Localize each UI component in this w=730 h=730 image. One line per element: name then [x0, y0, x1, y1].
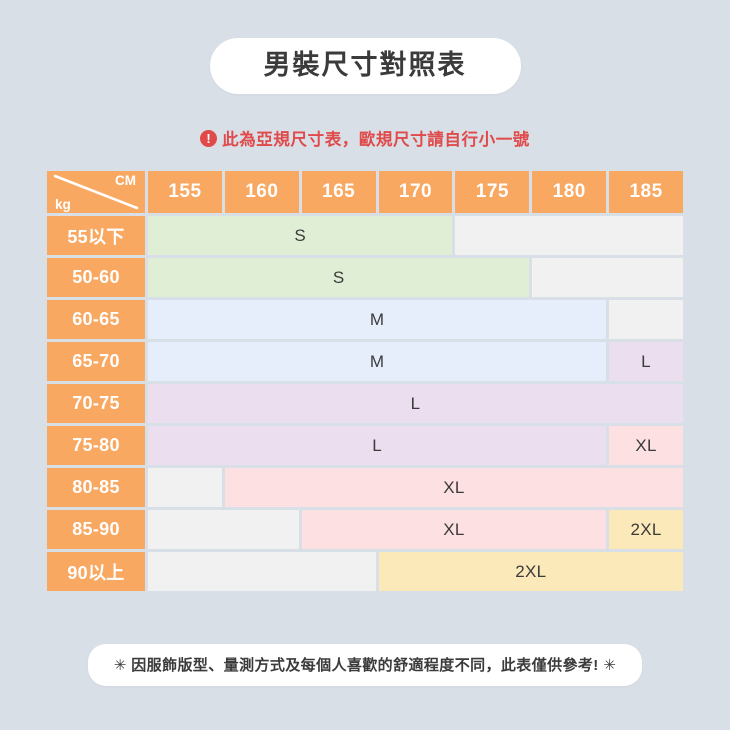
table-row: 80-85XL — [47, 468, 683, 507]
row-label: 85-90 — [47, 510, 145, 549]
size-cell-empty — [532, 258, 683, 297]
size-cell-empty — [148, 552, 376, 591]
table-row: 90以上2XL — [47, 552, 683, 591]
title-container: 男裝尺寸對照表 — [0, 38, 730, 94]
column-header-160: 160 — [225, 171, 299, 213]
column-header-180: 180 — [532, 171, 606, 213]
size-cell-l: L — [148, 384, 683, 423]
size-cell-m: M — [148, 300, 606, 339]
size-cell-l: L — [148, 426, 606, 465]
table-row: 75-80LXL — [47, 426, 683, 465]
size-cell-2xl: 2XL — [609, 510, 683, 549]
row-label: 70-75 — [47, 384, 145, 423]
size-cell-empty — [609, 300, 683, 339]
row-label: 80-85 — [47, 468, 145, 507]
exclamation-circle-icon: ! — [200, 130, 217, 147]
table-row: 55以下S — [47, 216, 683, 255]
table-body: 55以下S50-60S60-65M65-70ML70-75L75-80LXL80… — [47, 216, 683, 591]
corner-kg-label: kg — [55, 197, 71, 212]
warning-text: 此為亞規尺寸表，歐規尺寸請自行小一號 — [222, 126, 530, 150]
page-title: 男裝尺寸對照表 — [264, 49, 467, 81]
size-chart-page: 男裝尺寸對照表 ! 此為亞規尺寸表，歐規尺寸請自行小一號 CM kg 155 1… — [0, 0, 730, 730]
row-label: 50-60 — [47, 258, 145, 297]
table-row: 85-90XL2XL — [47, 510, 683, 549]
size-cell-2xl: 2XL — [379, 552, 683, 591]
size-cell-empty — [148, 510, 299, 549]
size-cell-empty — [148, 468, 222, 507]
footer-note-pill: ✳ 因服飾版型、量測方式及每個人喜歡的舒適程度不同，此表僅供參考! ✳ — [88, 644, 642, 686]
row-label: 60-65 — [47, 300, 145, 339]
size-cell-xl: XL — [302, 510, 606, 549]
column-header-165: 165 — [302, 171, 376, 213]
row-label: 90以上 — [47, 552, 145, 591]
corner-cm-label: CM — [115, 173, 136, 188]
table-corner-cell: CM kg — [47, 171, 145, 213]
table-row: 65-70ML — [47, 342, 683, 381]
size-cell-empty — [455, 216, 683, 255]
footer-note-container: ✳ 因服飾版型、量測方式及每個人喜歡的舒適程度不同，此表僅供參考! ✳ — [0, 644, 730, 686]
column-header-185: 185 — [609, 171, 683, 213]
table-row: 50-60S — [47, 258, 683, 297]
title-pill: 男裝尺寸對照表 — [210, 38, 521, 94]
column-header-170: 170 — [379, 171, 453, 213]
table-header-row: CM kg 155 160 165 170 175 180 185 — [47, 171, 683, 213]
table-row: 60-65M — [47, 300, 683, 339]
column-header-175: 175 — [455, 171, 529, 213]
column-header-155: 155 — [148, 171, 222, 213]
row-label: 55以下 — [47, 216, 145, 255]
table-row: 70-75L — [47, 384, 683, 423]
size-cell-s: S — [148, 258, 529, 297]
size-cell-m: M — [148, 342, 606, 381]
size-table: CM kg 155 160 165 170 175 180 185 55以下S5… — [47, 171, 683, 591]
row-label: 75-80 — [47, 426, 145, 465]
size-cell-xl: XL — [609, 426, 683, 465]
size-cell-l: L — [609, 342, 683, 381]
warning-banner: ! 此為亞規尺寸表，歐規尺寸請自行小一號 — [0, 126, 730, 150]
size-cell-s: S — [148, 216, 452, 255]
row-label: 65-70 — [47, 342, 145, 381]
size-cell-xl: XL — [225, 468, 683, 507]
footer-note-text: ✳ 因服飾版型、量測方式及每個人喜歡的舒適程度不同，此表僅供參考! ✳ — [114, 654, 616, 675]
